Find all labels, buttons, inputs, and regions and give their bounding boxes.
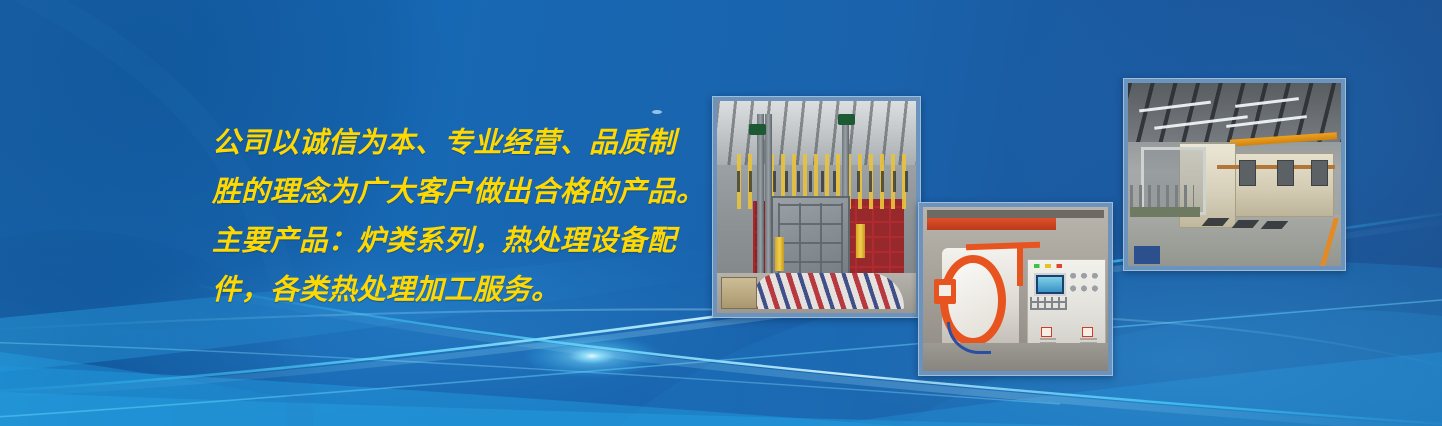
- photo-vacuum-furnace-control-cabinet: [918, 202, 1113, 376]
- headline-line-2: 胜的理念为广大客户做出合格的产品。: [212, 167, 722, 216]
- photo-continuous-furnace-line: [1123, 78, 1346, 271]
- photo-image-2: [923, 207, 1108, 371]
- photo-image-1: [717, 101, 916, 313]
- headline-line-1: 公司以诚信为本、专业经营、品质制: [212, 118, 722, 167]
- headline-text: 公司以诚信为本、专业经营、品质制 胜的理念为广大客户做出合格的产品。 主要产品：…: [212, 118, 722, 314]
- photo-image-3: [1128, 83, 1341, 266]
- headline-line-4: 件，各类热处理加工服务。: [212, 265, 722, 314]
- company-banner: 公司以诚信为本、专业经营、品质制 胜的理念为广大客户做出合格的产品。 主要产品：…: [0, 0, 1442, 426]
- headline-line-3: 主要产品：炉类系列，热处理设备配: [212, 216, 722, 265]
- background-speck: [652, 110, 662, 114]
- photo-box-type-furnace-hall: [712, 96, 921, 318]
